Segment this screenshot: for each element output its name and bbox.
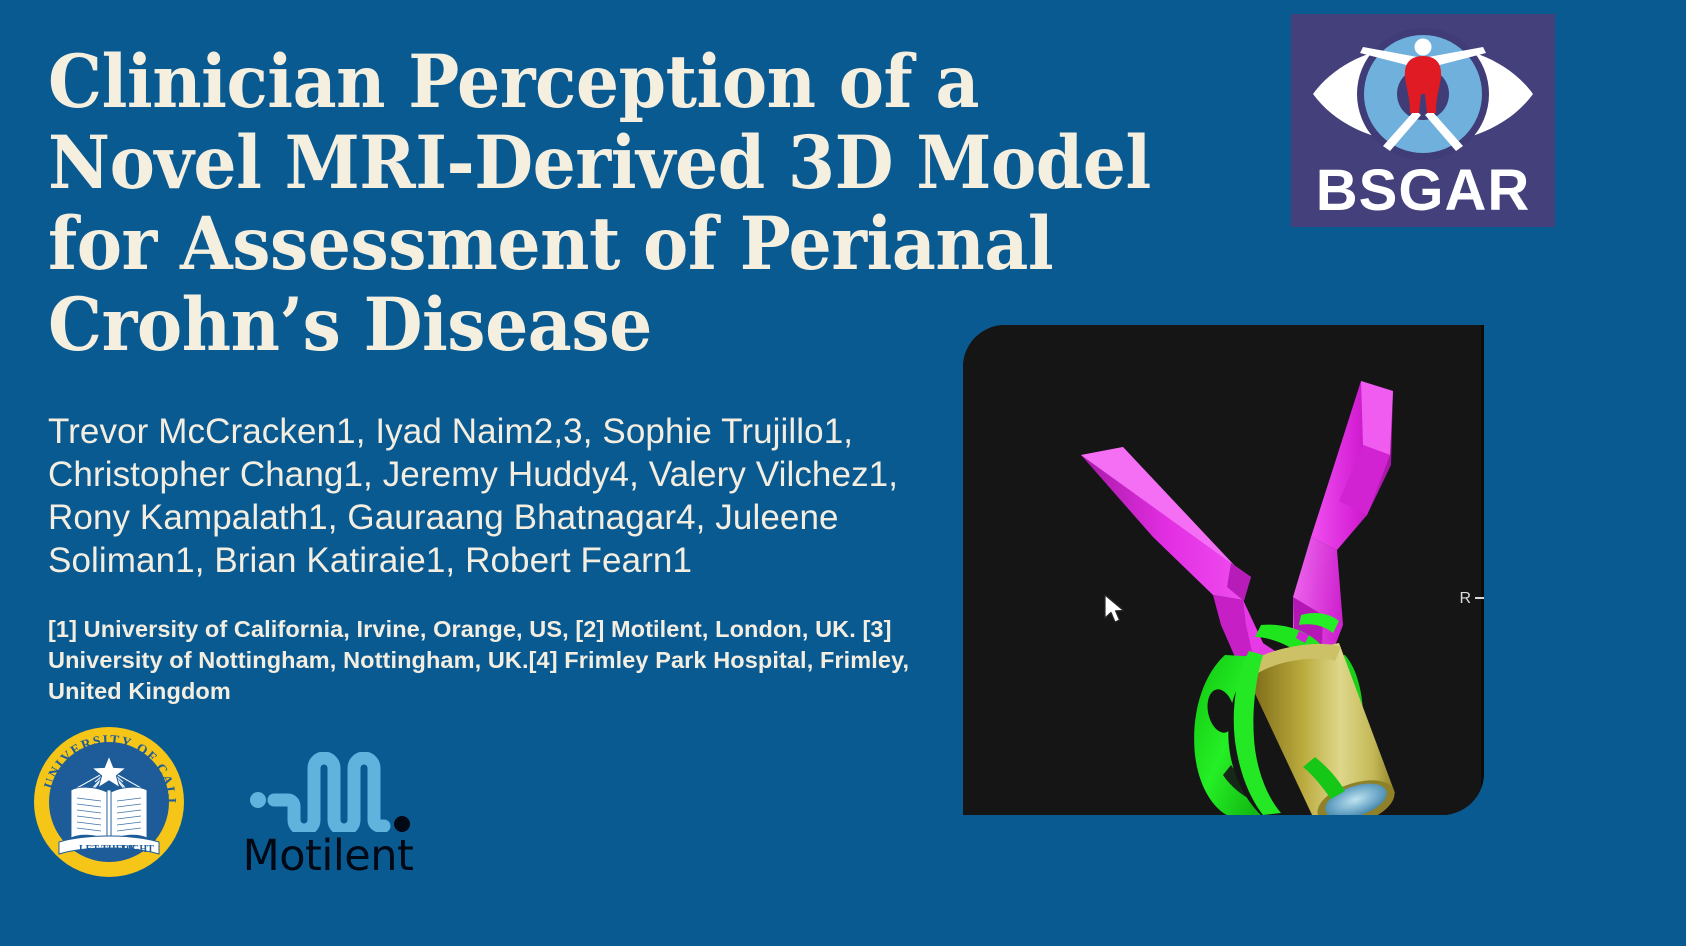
uc-irvine-seal: UNIVERSITY OF CALIFORNIA THE • IRVINE bbox=[33, 726, 185, 878]
uc-seal-motto-right: LIGHT bbox=[121, 844, 154, 855]
page-title: Clinician Perception of a Novel MRI-Deri… bbox=[48, 42, 1173, 366]
motilent-logo: Motilent bbox=[228, 752, 428, 877]
affiliation-list: [1] University of California, Irvine, Or… bbox=[48, 614, 948, 707]
viewer-right-edge bbox=[1481, 325, 1484, 815]
bsgar-logo: BSGAR bbox=[1291, 14, 1555, 227]
bsgar-wordmark: BSGAR bbox=[1291, 161, 1555, 221]
bsgar-eye-icon bbox=[1291, 14, 1555, 174]
uc-seal-icon: UNIVERSITY OF CALIFORNIA THE • IRVINE bbox=[33, 726, 185, 878]
poster-title-slide: Clinician Perception of a Novel MRI-Deri… bbox=[0, 0, 1686, 946]
orientation-label-right: R bbox=[1459, 591, 1471, 607]
mouse-cursor-icon bbox=[1103, 594, 1129, 628]
3d-model-render[interactable] bbox=[963, 325, 1484, 815]
author-list: Trevor McCracken1, Iyad Naim2,3, Sophie … bbox=[48, 410, 928, 582]
motilent-wordmark: Motilent bbox=[228, 832, 428, 880]
motilent-wave-icon bbox=[250, 752, 410, 832]
3d-model-viewer[interactable]: R bbox=[963, 325, 1484, 815]
orientation-tick bbox=[1475, 597, 1484, 599]
